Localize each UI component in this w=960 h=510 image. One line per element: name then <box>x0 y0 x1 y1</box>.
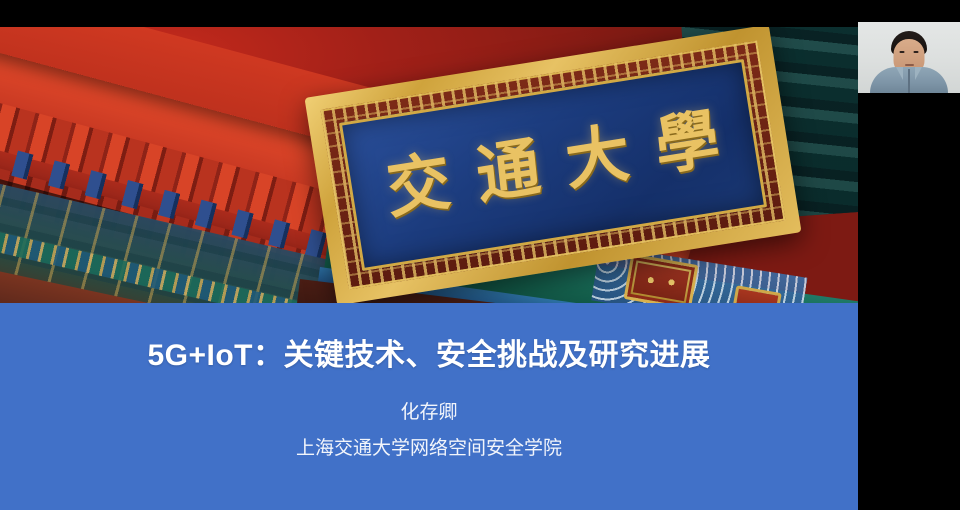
shirt-collar-left <box>896 67 903 80</box>
slide-text-area: 5G+IoT：关键技术、安全挑战及研究进展 化存卿 上海交通大学网络空间安全学院 <box>0 303 858 510</box>
architecture-photo: 交 通 大 學 <box>0 27 858 303</box>
shirt-placket <box>908 69 910 93</box>
presentation-slide[interactable]: 交 通 大 學 5G+IoT：关键技术、安全挑战及研究进展 化存卿 上海交通大学… <box>0 0 858 510</box>
presenter-affiliation: 上海交通大学网络空间安全学院 <box>296 433 562 460</box>
slide-title: 5G+IoT：关键技术、安全挑战及研究进展 <box>147 330 710 374</box>
speaker-mouth <box>905 64 914 66</box>
speaker-eye-right <box>914 51 919 53</box>
speaker-video-feed[interactable] <box>858 22 960 93</box>
letterbox-bar-top <box>0 0 858 27</box>
plaque-char-3: 大 <box>563 121 633 195</box>
presenter-name: 化存卿 <box>400 397 457 424</box>
plaque-char-4: 學 <box>653 107 723 181</box>
speaker-eye-left <box>900 51 905 53</box>
speaker-video-panel[interactable] <box>858 0 960 510</box>
slide-header-photo: 交 通 大 學 <box>0 0 858 303</box>
screen-root: 交 通 大 學 5G+IoT：关键技术、安全挑战及研究进展 化存卿 上海交通大学… <box>0 0 960 510</box>
plaque-board: 交 通 大 學 <box>339 59 767 271</box>
shirt-collar-right <box>915 67 922 80</box>
plaque-char-1: 交 <box>384 149 454 223</box>
speaker-shirt <box>870 67 948 93</box>
plaque-char-2: 通 <box>473 135 543 209</box>
